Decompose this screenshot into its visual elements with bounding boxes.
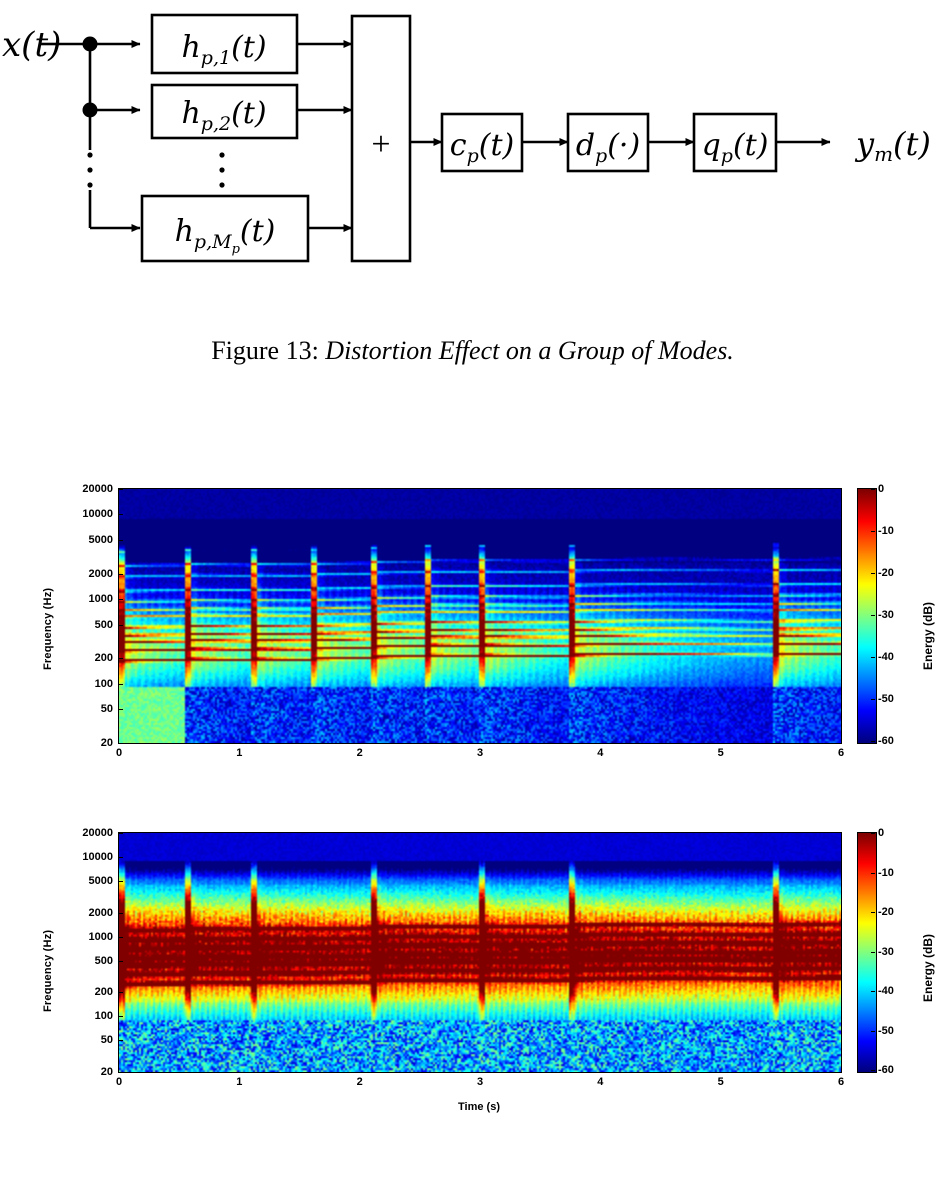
ytick-mark — [119, 961, 123, 962]
colorbar-tick-neg20: -20 — [878, 567, 894, 579]
figure-caption: Figure 13: Distortion Effect on a Group … — [0, 336, 945, 366]
block-d-p-label: dp(·) — [576, 128, 640, 167]
colorbar-tick-mark — [871, 489, 875, 490]
spectrogram-bottom-ylabel: Frequency (Hz) — [42, 930, 54, 1012]
spectrogram-top-plot — [118, 488, 842, 744]
spectrogram-bottom-xlabel: Time (s) — [458, 1101, 500, 1113]
xtick-1: 1 — [236, 747, 242, 759]
spectrogram-top-canvas — [119, 489, 841, 743]
xtick-2: 2 — [357, 747, 363, 759]
colorbar-tick-mark — [871, 573, 875, 574]
spectrogram-top-figure: Frequency (Hz) 2000010000500020001000500… — [0, 470, 945, 770]
ytick-200: 200 — [61, 986, 113, 998]
colorbar-tick-mark — [871, 991, 875, 992]
ytick-20000: 20000 — [61, 483, 113, 495]
colorbar-tick-mark — [871, 531, 875, 532]
colorbar-tick-mark — [871, 615, 875, 616]
ytick-mark — [119, 913, 123, 914]
ytick-10000: 10000 — [61, 851, 113, 863]
spectrogram-top-ylabel: Frequency (Hz) — [42, 588, 54, 670]
block-c-p-label: cp(t) — [450, 128, 514, 167]
xtick-3: 3 — [477, 747, 483, 759]
input-signal-label: x(t) — [2, 25, 61, 65]
ytick-mark — [119, 658, 123, 659]
ytick-mark — [119, 574, 123, 575]
ytick-20: 20 — [61, 1066, 113, 1078]
colorbar-bottom — [857, 832, 877, 1073]
colorbar-bottom-label: Energy (dB) — [921, 934, 935, 1002]
ytick-50: 50 — [61, 703, 113, 715]
colorbar-tick-neg10: -10 — [878, 525, 894, 537]
block-diagram-svg: x(t) hp,1(t) hp,2(t) hp,Mp(t) + cp(t) dp… — [0, 0, 945, 290]
colorbar-top-canvas — [858, 489, 876, 743]
ytick-100: 100 — [61, 1010, 113, 1022]
colorbar-tick-neg10: -10 — [878, 867, 894, 879]
colorbar-tick-neg50: -50 — [878, 1025, 894, 1037]
xtick-1: 1 — [236, 1076, 242, 1088]
figure-caption-text: Distortion Effect on a Group of Modes. — [325, 336, 734, 365]
ytick-mark — [119, 514, 123, 515]
ytick-2000: 2000 — [61, 568, 113, 580]
xtick-6: 6 — [838, 747, 844, 759]
xtick-2: 2 — [357, 1076, 363, 1088]
colorbar-tick-mark — [871, 833, 875, 834]
ytick-mark — [119, 489, 123, 490]
spectrogram-bottom-figure: Frequency (Hz) 2000010000500020001000500… — [0, 812, 945, 1112]
bus-ellipsis — [87, 152, 92, 187]
colorbar-tick-mark — [871, 1070, 875, 1071]
ytick-500: 500 — [61, 955, 113, 967]
summer-label: + — [371, 126, 390, 163]
colorbar-tick-neg40: -40 — [878, 985, 894, 997]
colorbar-tick-mark — [871, 952, 875, 953]
ytick-100: 100 — [61, 678, 113, 690]
ytick-5000: 5000 — [61, 534, 113, 546]
colorbar-tick-0: 0 — [878, 827, 884, 839]
branch-ellipsis — [219, 152, 224, 187]
colorbar-tick-neg20: -20 — [878, 906, 894, 918]
colorbar-tick-mark — [871, 657, 875, 658]
block-diagram: x(t) hp,1(t) hp,2(t) hp,Mp(t) + cp(t) dp… — [0, 0, 945, 290]
ytick-200: 200 — [61, 652, 113, 664]
xtick-0: 0 — [116, 747, 122, 759]
ytick-5000: 5000 — [61, 875, 113, 887]
ytick-mark — [119, 1040, 123, 1041]
ytick-mark — [119, 937, 123, 938]
ytick-20000: 20000 — [61, 827, 113, 839]
xtick-4: 4 — [597, 1076, 603, 1088]
colorbar-tick-mark — [871, 912, 875, 913]
xtick-5: 5 — [718, 1076, 724, 1088]
ytick-50: 50 — [61, 1034, 113, 1046]
ytick-mark — [119, 881, 123, 882]
ytick-2000: 2000 — [61, 907, 113, 919]
block-q-p-label: qp(t) — [702, 128, 769, 167]
ytick-1000: 1000 — [61, 593, 113, 605]
xtick-6: 6 — [838, 1076, 844, 1088]
ytick-mark — [119, 743, 123, 744]
colorbar-tick-0: 0 — [878, 483, 884, 495]
spectrogram-bottom-canvas — [119, 833, 841, 1072]
colorbar-tick-neg60: -60 — [878, 735, 894, 747]
colorbar-tick-neg50: -50 — [878, 693, 894, 705]
ytick-mark — [119, 709, 123, 710]
ytick-mark — [119, 540, 123, 541]
ytick-mark — [119, 599, 123, 600]
junction-dot-1 — [83, 37, 98, 52]
ytick-1000: 1000 — [61, 931, 113, 943]
colorbar-tick-neg30: -30 — [878, 946, 894, 958]
colorbar-top — [857, 488, 877, 744]
ytick-500: 500 — [61, 619, 113, 631]
xtick-4: 4 — [597, 747, 603, 759]
xtick-0: 0 — [116, 1076, 122, 1088]
ytick-mark — [119, 833, 123, 834]
xtick-5: 5 — [718, 747, 724, 759]
ytick-10000: 10000 — [61, 508, 113, 520]
colorbar-top-label: Energy (dB) — [921, 602, 935, 670]
colorbar-tick-mark — [871, 741, 875, 742]
spectrogram-bottom-plot — [118, 832, 842, 1073]
colorbar-tick-neg40: -40 — [878, 651, 894, 663]
colorbar-tick-neg60: -60 — [878, 1064, 894, 1076]
colorbar-tick-mark — [871, 873, 875, 874]
junction-dot-2 — [83, 103, 98, 118]
ytick-mark — [119, 992, 123, 993]
colorbar-bottom-canvas — [858, 833, 876, 1072]
ytick-mark — [119, 1016, 123, 1017]
ytick-mark — [119, 625, 123, 626]
colorbar-tick-neg30: -30 — [878, 609, 894, 621]
ytick-mark — [119, 684, 123, 685]
ytick-20: 20 — [61, 737, 113, 749]
ytick-mark — [119, 857, 123, 858]
figure-caption-number: Figure 13: — [211, 336, 319, 365]
ytick-mark — [119, 1072, 123, 1073]
colorbar-tick-mark — [871, 699, 875, 700]
xtick-3: 3 — [477, 1076, 483, 1088]
colorbar-tick-mark — [871, 1031, 875, 1032]
output-signal-label: ym(t) — [854, 125, 931, 166]
